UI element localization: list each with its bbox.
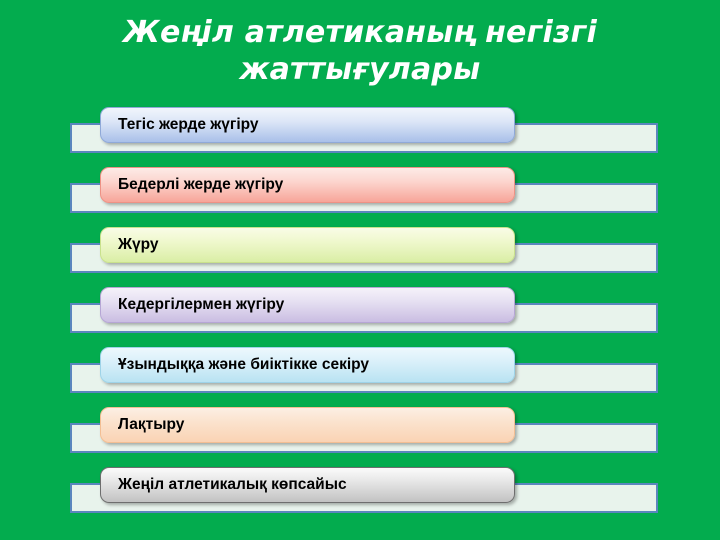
exercise-list: Тегіс жерде жүгіру Бедерлі жерде жүгіру … [0, 0, 720, 540]
list-item-pill[interactable]: Ұзындыққа және биіктікке секіру [100, 347, 515, 383]
list-item-label: Лақтыру [101, 417, 194, 433]
list-item[interactable]: Кедергілермен жүгіру [0, 284, 720, 344]
list-item[interactable]: Ұзындыққа және биіктікке секіру [0, 344, 720, 404]
list-item-pill[interactable]: Жүру [100, 227, 515, 263]
list-item[interactable]: Жеңіл атлетикалық көпсайыс [0, 464, 720, 524]
list-item-label: Ұзындыққа және биіктікке секіру [101, 357, 379, 373]
list-item-pill[interactable]: Кедергілермен жүгіру [100, 287, 515, 323]
list-item-label: Бедерлі жерде жүгіру [101, 177, 293, 193]
list-item-pill[interactable]: Тегіс жерде жүгіру [100, 107, 515, 143]
slide-canvas: Жеңіл атлетиканың негізгі жаттығулары Те… [0, 0, 720, 540]
list-item-label: Кедергілермен жүгіру [101, 297, 294, 313]
list-item-label: Тегіс жерде жүгіру [101, 117, 269, 133]
list-item[interactable]: Бедерлі жерде жүгіру [0, 164, 720, 224]
list-item-label: Жеңіл атлетикалық көпсайыс [101, 477, 357, 493]
list-item-pill[interactable]: Жеңіл атлетикалық көпсайыс [100, 467, 515, 503]
list-item-label: Жүру [101, 237, 169, 253]
list-item[interactable]: Лақтыру [0, 404, 720, 464]
list-item[interactable]: Тегіс жерде жүгіру [0, 104, 720, 164]
list-item-pill[interactable]: Лақтыру [100, 407, 515, 443]
list-item-pill[interactable]: Бедерлі жерде жүгіру [100, 167, 515, 203]
list-item[interactable]: Жүру [0, 224, 720, 284]
